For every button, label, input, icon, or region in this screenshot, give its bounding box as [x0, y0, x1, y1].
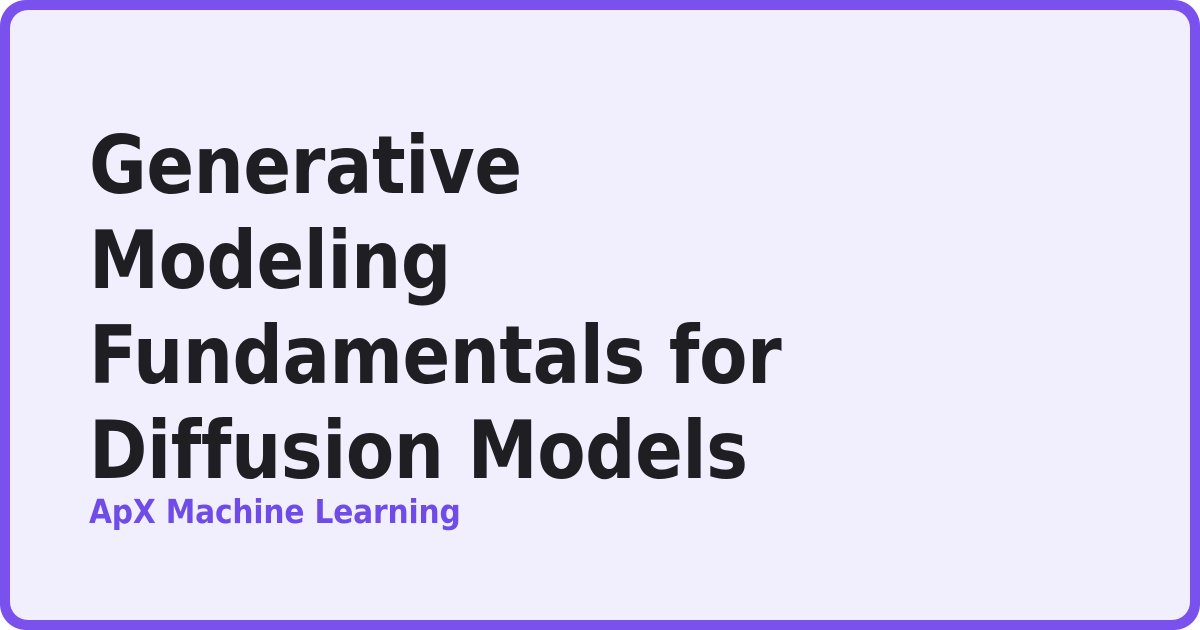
card-content: Generative Modeling Fundamentals for Dif… — [89, 10, 1130, 620]
page-title: Generative Modeling Fundamentals for Dif… — [89, 118, 881, 498]
social-card-frame: Generative Modeling Fundamentals for Dif… — [0, 0, 1200, 630]
brand-block: ApX Machine Learning — [89, 492, 502, 532]
card-surface: Generative Modeling Fundamentals for Dif… — [10, 10, 1190, 620]
title-block: Generative Modeling Fundamentals for Dif… — [89, 118, 989, 498]
brand-name: ApX Machine Learning — [89, 492, 461, 532]
